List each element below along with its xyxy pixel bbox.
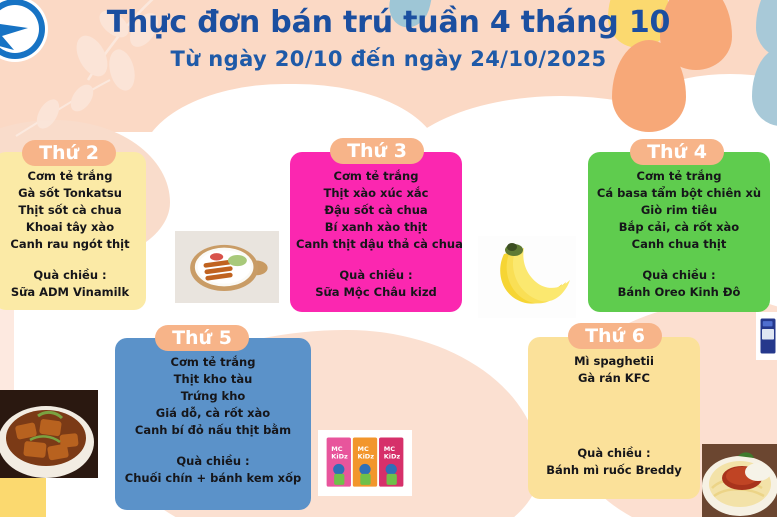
snack-value: Sữa Mộc Châu kizd	[296, 284, 456, 301]
day-pill-wednesday: Thứ 4	[630, 139, 724, 165]
dish-item: Cơm tẻ trắng	[296, 168, 456, 185]
dish-item: Cá basa tẩm bột chiên xù	[594, 185, 764, 202]
day-card-tuesday: Cơm tẻ trắng Thịt xào xúc xắc Đậu sốt cà…	[290, 152, 462, 312]
snack-label: Quà chiều :	[121, 453, 305, 470]
photo-bananas	[478, 236, 576, 318]
dish-item: Trứng kho	[121, 388, 305, 405]
dish-item: Gà sốt Tonkatsu	[0, 185, 140, 202]
dish-item: Thịt sốt cà chua	[0, 202, 140, 219]
svg-text:KiDz: KiDz	[331, 453, 348, 461]
dish-item: Canh bí đỏ nấu thịt bằm	[121, 422, 305, 439]
day-pill-friday: Thứ 6	[568, 323, 662, 349]
dish-item: Thịt kho tàu	[121, 371, 305, 388]
dish-list-friday: Mì spaghetii Gà rán KFC	[534, 353, 694, 387]
day-pill-tuesday: Thứ 3	[330, 138, 424, 164]
page-subtitle: Từ ngày 20/10 đến ngày 24/10/2025	[0, 47, 777, 71]
photo-spaghetti	[702, 444, 777, 517]
dish-item: Giò rim tiêu	[594, 202, 764, 219]
photo-tonkatsu-plate	[172, 228, 282, 306]
snack-value: Bánh Oreo Kinh Đô	[594, 284, 764, 301]
dish-item: Gà rán KFC	[534, 370, 694, 387]
day-card-monday: Cơm tẻ trắng Gà sốt Tonkatsu Thịt sốt cà…	[0, 152, 146, 310]
dish-list-thursday: Cơm tẻ trắng Thịt kho tàu Trứng kho Giá …	[121, 354, 305, 439]
snack-value: Chuối chín + bánh kem xốp	[121, 470, 305, 487]
svg-text:KiDz: KiDz	[358, 453, 375, 461]
dish-item: Bí xanh xào thịt	[296, 219, 456, 236]
day-card-thursday: Cơm tẻ trắng Thịt kho tàu Trứng kho Giá …	[115, 338, 311, 510]
dish-item: Thịt xào xúc xắc	[296, 185, 456, 202]
day-card-wednesday: Cơm tẻ trắng Cá basa tẩm bột chiên xù Gi…	[588, 152, 770, 312]
dish-item: Canh thịt dậu thả cà chua	[296, 236, 456, 253]
photo-side-product	[756, 312, 777, 360]
day-card-friday: Mì spaghetii Gà rán KFC Quà chiều : Bánh…	[528, 337, 700, 499]
photo-milk-cartons: MCMCMC KiDzKiDzKiDz	[318, 430, 412, 496]
dish-list-tuesday: Cơm tẻ trắng Thịt xào xúc xắc Đậu sốt cà…	[296, 168, 456, 253]
photo-braised-pork	[0, 390, 98, 478]
snack-label: Quà chiều :	[594, 267, 764, 284]
dish-item: Cơm tẻ trắng	[121, 354, 305, 371]
dish-item: Bắp cải, cà rốt xào	[594, 219, 764, 236]
dish-list-wednesday: Cơm tẻ trắng Cá basa tẩm bột chiên xù Gi…	[594, 168, 764, 253]
background-strip-pink	[0, 300, 14, 390]
dish-list-monday: Cơm tẻ trắng Gà sốt Tonkatsu Thịt sốt cà…	[0, 168, 140, 253]
dish-item: Đậu sốt cà chua	[296, 202, 456, 219]
svg-text:KiDz: KiDz	[384, 453, 401, 461]
dish-item: Canh chua thịt	[594, 236, 764, 253]
snack-label: Quà chiều :	[534, 445, 694, 462]
snack-value: Sữa ADM Vinamilk	[0, 284, 140, 301]
snack-label: Quà chiều :	[296, 267, 456, 284]
dish-item: Cơm tẻ trắng	[0, 168, 140, 185]
dish-item: Khoai tây xào	[0, 219, 140, 236]
day-pill-monday: Thứ 2	[22, 140, 116, 166]
dish-item: Canh rau ngót thịt	[0, 236, 140, 253]
day-pill-thursday: Thứ 5	[155, 325, 249, 351]
snack-label: Quà chiều :	[0, 267, 140, 284]
menu-poster: Thực đơn bán trú tuần 4 tháng 10 Từ ngày…	[0, 0, 777, 517]
title-block: Thực đơn bán trú tuần 4 tháng 10 Từ ngày…	[0, 6, 777, 71]
dish-item: Cơm tẻ trắng	[594, 168, 764, 185]
snack-value: Bánh mì ruốc Breddy	[534, 462, 694, 479]
leaf-branch-secondary-icon	[14, 74, 134, 144]
dish-item: Giá dỗ, cà rốt xào	[121, 405, 305, 422]
school-logo-icon	[0, 0, 50, 64]
dish-item: Mì spaghetii	[534, 353, 694, 370]
page-title: Thực đơn bán trú tuần 4 tháng 10	[0, 6, 777, 39]
